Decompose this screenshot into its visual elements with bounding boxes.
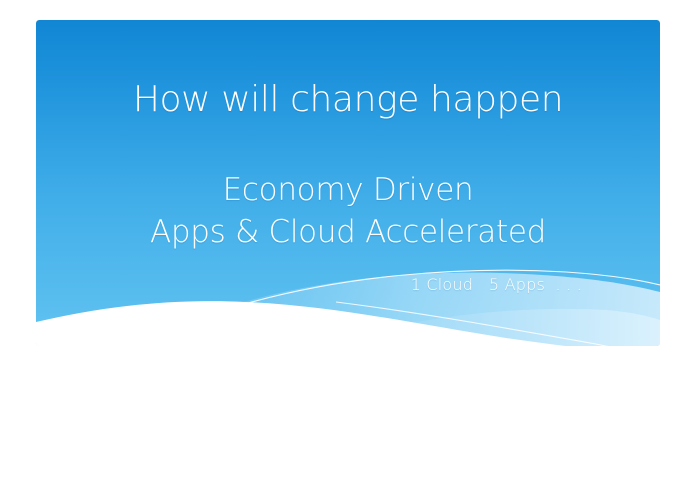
slide-subtitle-line-1: Economy Driven: [36, 170, 660, 212]
slide-text-layer: How will change happen Economy Driven Ap…: [36, 20, 660, 346]
slide-canvas: How will change happen Economy Driven Ap…: [0, 0, 695, 494]
slide-subtitle: Economy Driven Apps & Cloud Accelerated: [36, 170, 660, 254]
slide-title: How will change happen: [36, 80, 660, 120]
slide-tagline: 1 Cloud 5 Apps . . .: [36, 275, 660, 294]
presentation-slide: How will change happen Economy Driven Ap…: [36, 20, 660, 346]
slide-subtitle-line-2: Apps & Cloud Accelerated: [36, 212, 660, 254]
